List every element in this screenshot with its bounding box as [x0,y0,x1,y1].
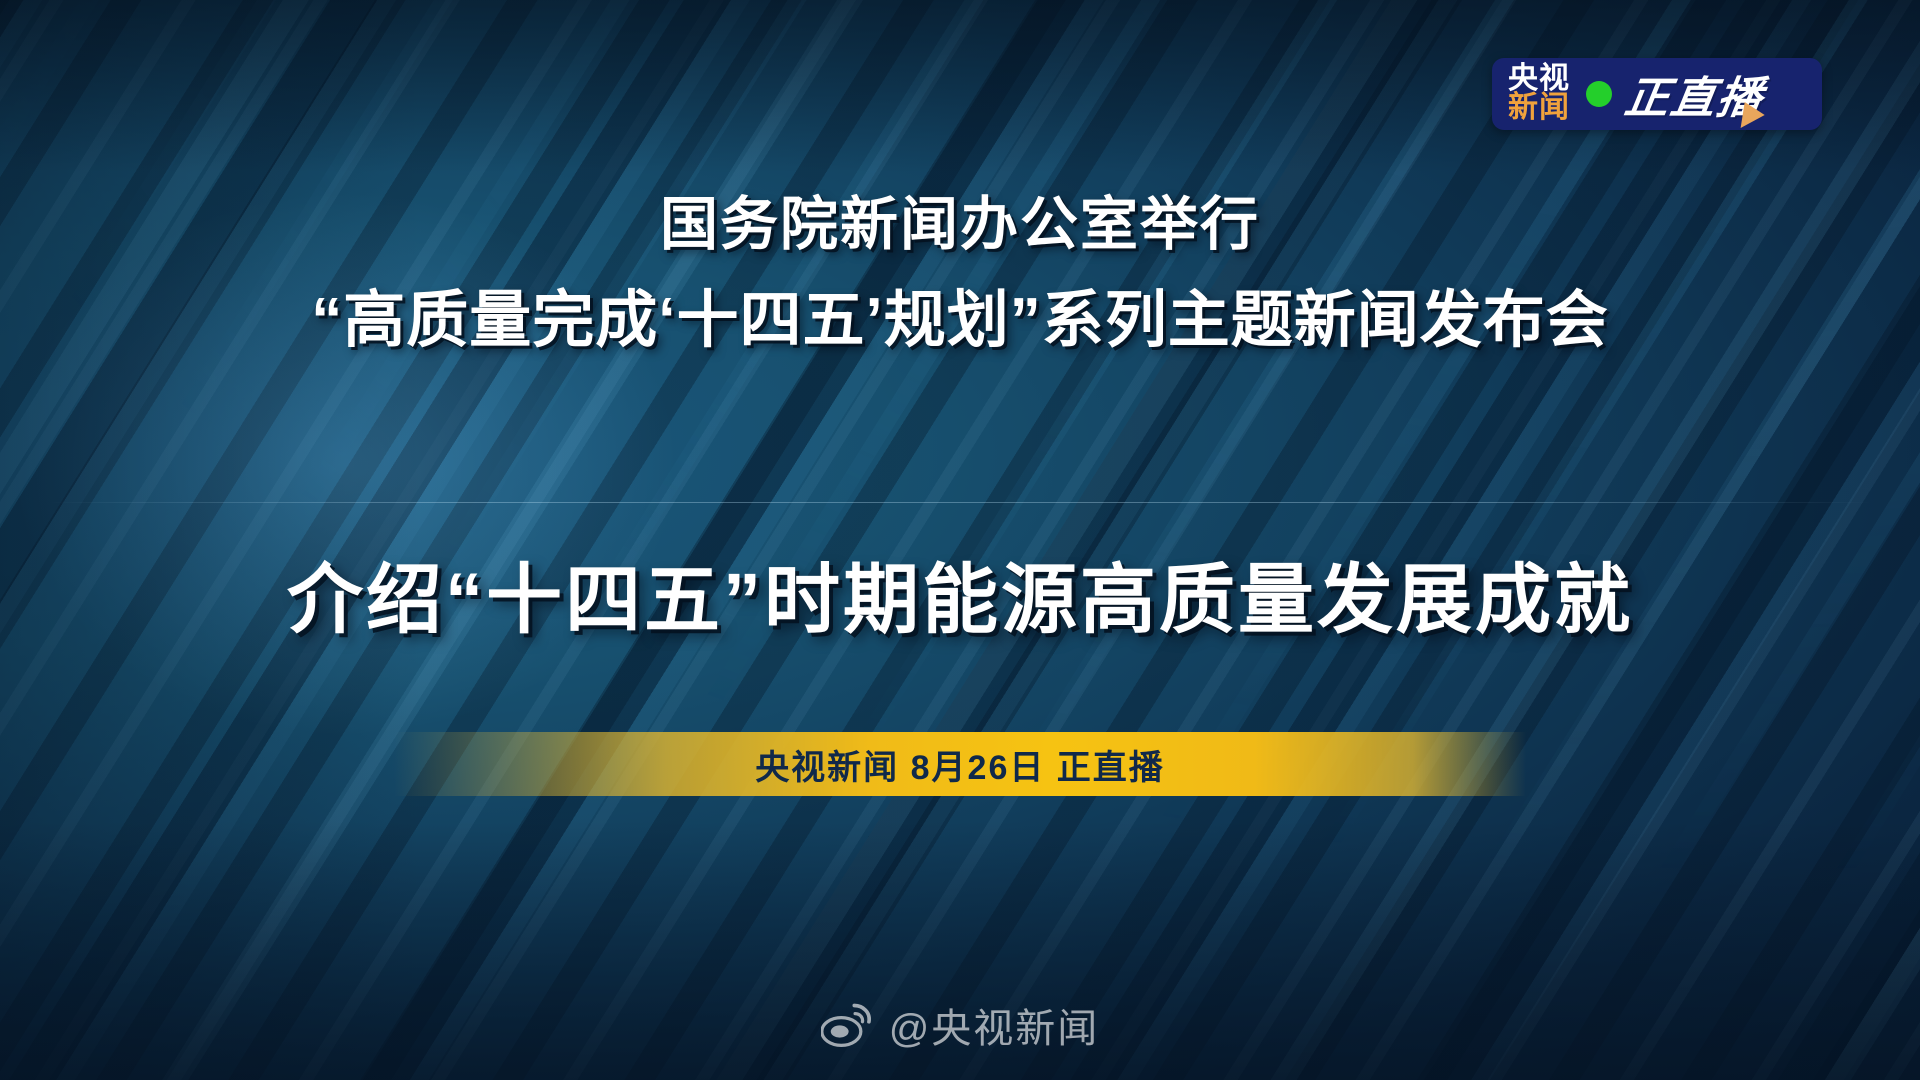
title-line-1: 国务院新闻办公室举行 [0,196,1920,254]
live-dot-icon [1586,81,1612,107]
horizontal-divider [48,502,1872,503]
play-triangle-icon [1741,102,1767,128]
schedule-banner-text: 央视新闻 8月26日 正直播 [755,740,1165,789]
title-block: 国务院新闻办公室举行 “高质量完成‘十四五’规划”系列主题新闻发布会 [0,196,1920,352]
headline: 介绍“十四五”时期能源高质量发展成就 [0,538,1920,648]
cctv-wordmark-bottom: 新闻 [1508,94,1570,123]
live-broadcast-logo[interactable]: 央视 新闻 正直播 [1492,58,1822,130]
cctv-wordmark-top: 央视 [1508,65,1570,94]
weibo-watermark: @央视新闻 [0,996,1920,1054]
weibo-handle: @央视新闻 [889,996,1100,1054]
cctv-news-wordmark: 央视 新闻 [1508,65,1570,123]
broadcast-title-card: 央视 新闻 正直播 国务院新闻办公室举行 “高质量完成‘十四五’规划”系列主题新… [0,0,1920,1080]
title-line-2: “高质量完成‘十四五’规划”系列主题新闻发布会 [0,290,1920,352]
schedule-banner: 央视新闻 8月26日 正直播 [394,732,1526,796]
weibo-icon [821,1003,873,1047]
live-label: 正直播 [1621,62,1769,126]
